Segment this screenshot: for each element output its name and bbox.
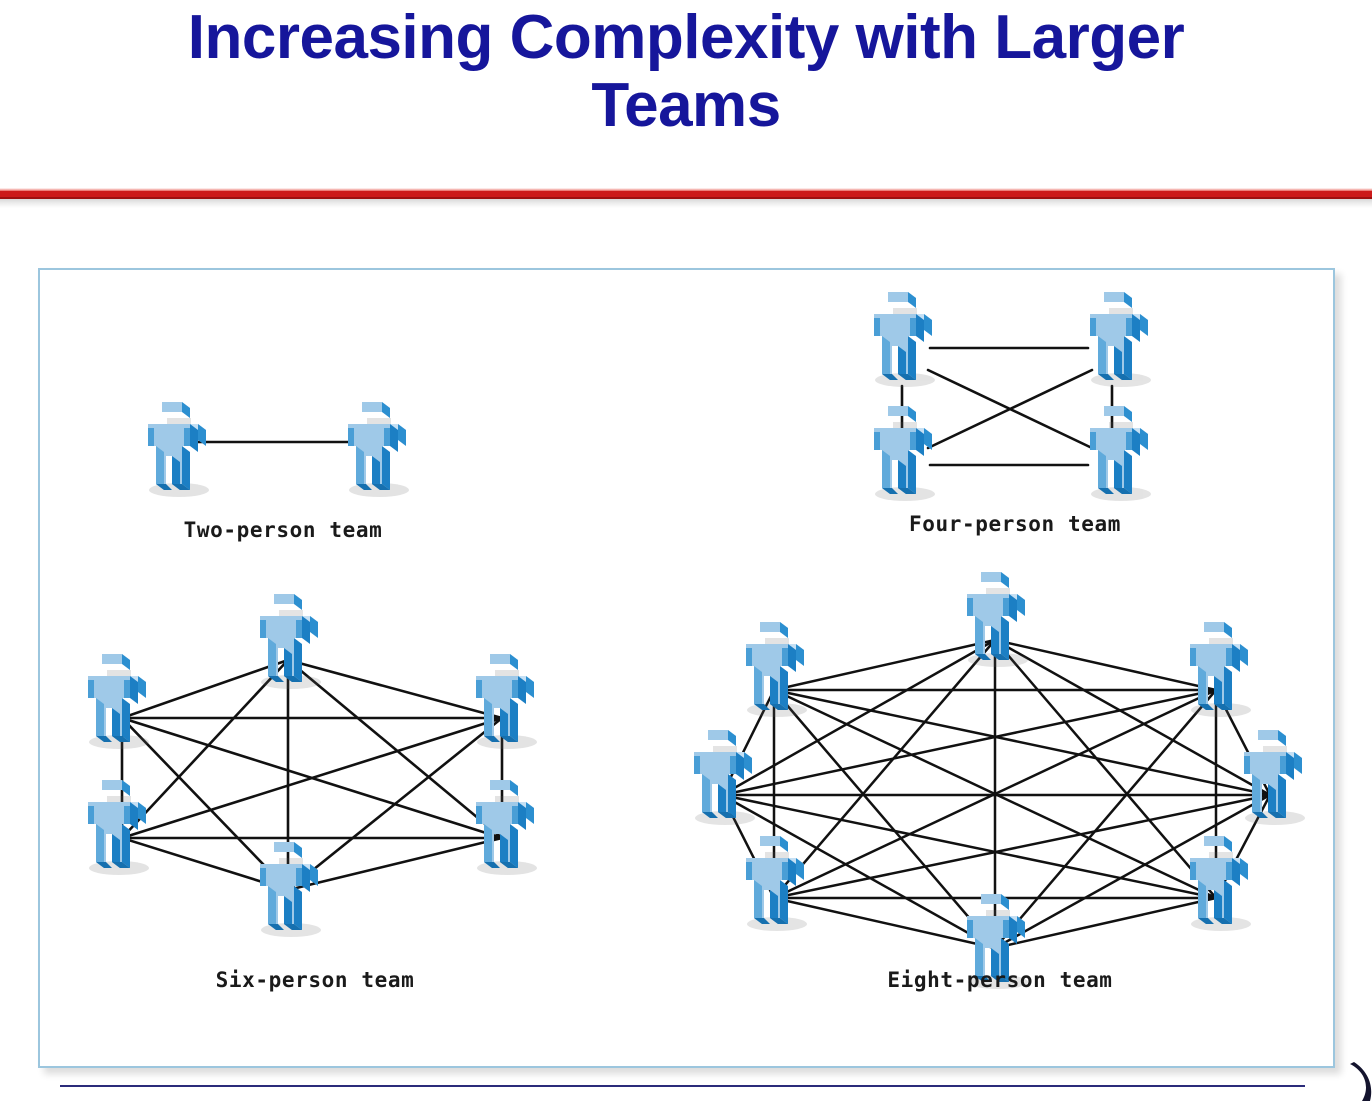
diagram-canvas: Two-person team [40, 270, 1333, 1066]
team-two-person[interactable]: Two-person team [118, 370, 448, 550]
team-two-person-graph [118, 370, 448, 520]
corner-swoosh-icon [1340, 1062, 1372, 1101]
team-four-person[interactable]: Four-person team [840, 280, 1190, 570]
team-two-person-caption: Two-person team [118, 518, 448, 542]
team-four-person-graph [840, 280, 1190, 542]
page-title: Increasing Complexity with Larger Teams [0, 4, 1372, 140]
team-six-person[interactable]: Six-person team [50, 560, 580, 1060]
team-eight-person-graph [670, 550, 1330, 990]
divider-shadow [0, 199, 1372, 208]
team-six-person-caption: Six-person team [50, 968, 580, 992]
diagram-frame[interactable]: Two-person team [38, 268, 1335, 1068]
team-eight-person-caption: Eight-person team [670, 968, 1330, 992]
team-four-person-caption: Four-person team [840, 512, 1190, 536]
team-six-person-graph [50, 560, 580, 990]
team-eight-person[interactable]: Eight-person team [670, 550, 1330, 1060]
footer-rule [60, 1085, 1305, 1087]
title-divider [0, 188, 1372, 208]
